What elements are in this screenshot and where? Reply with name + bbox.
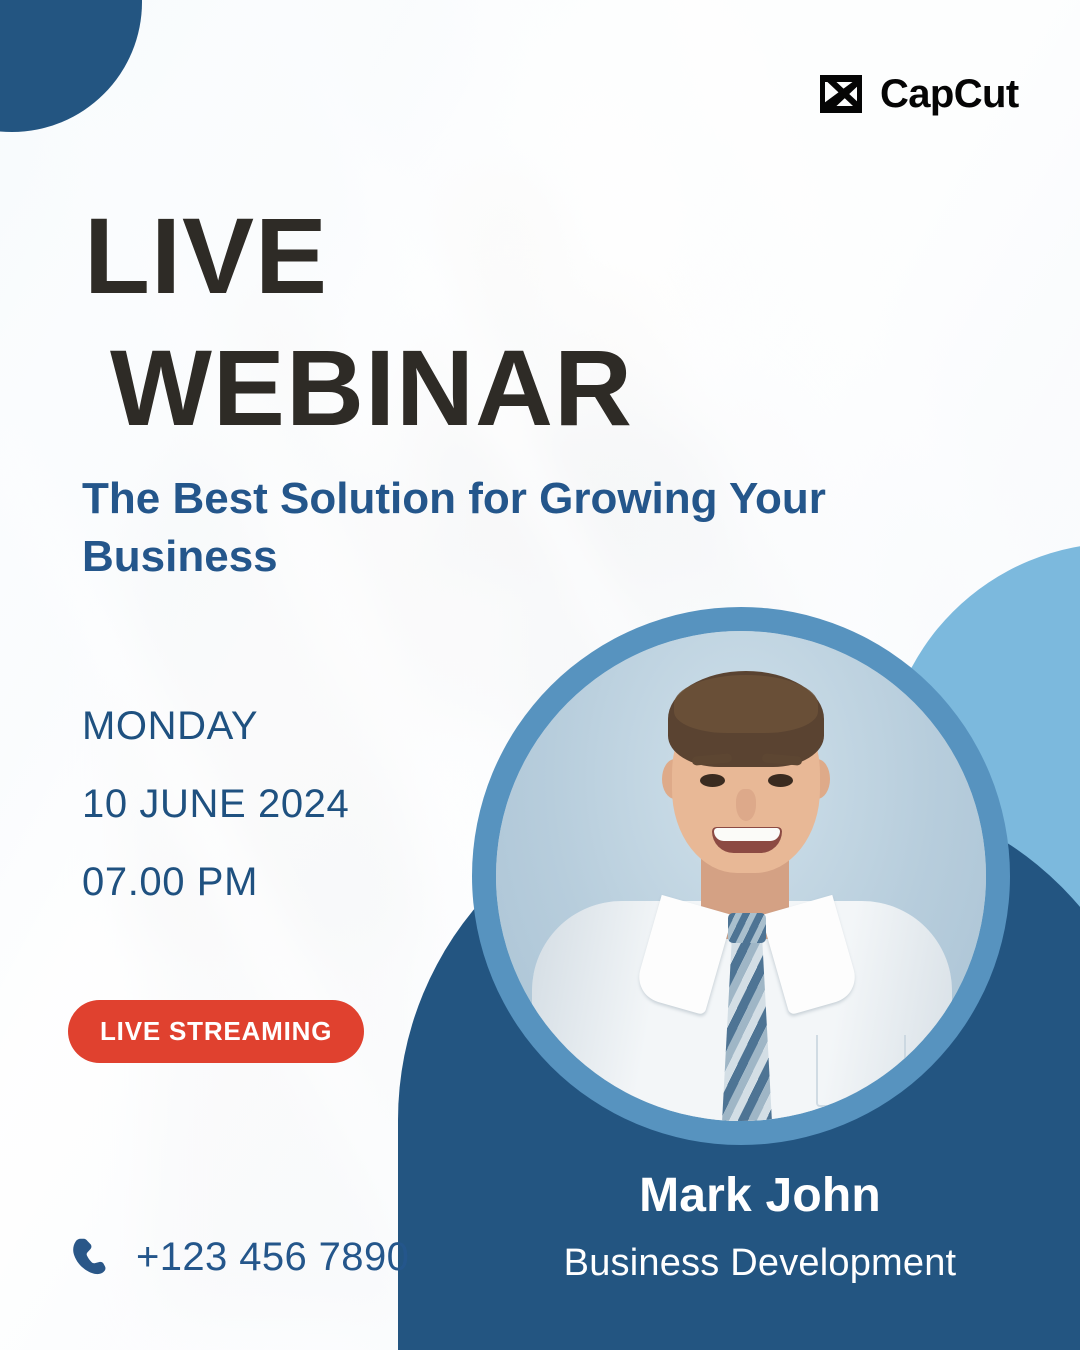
portrait-teeth xyxy=(714,828,780,841)
event-time: 07.00 PM xyxy=(82,862,349,902)
portrait-shirt-pocket xyxy=(816,1035,906,1107)
portrait-mouth xyxy=(712,827,782,853)
speaker-info: Mark John Business Development xyxy=(440,1168,1080,1286)
page-title: LIVE WEBINAR xyxy=(84,190,704,454)
contact-phone[interactable]: +123 456 7890 xyxy=(68,1234,409,1280)
title-line-1: LIVE xyxy=(84,190,704,322)
capcut-mark-icon xyxy=(818,72,864,116)
subtitle: The Best Solution for Growing Your Busin… xyxy=(82,470,852,586)
capcut-logo[interactable]: CapCut xyxy=(818,72,1019,116)
portrait-tie-knot xyxy=(728,913,766,943)
phone-number: +123 456 7890 xyxy=(136,1237,409,1277)
portrait-eye-left xyxy=(700,774,725,787)
webinar-poster: CapCut LIVE WEBINAR The Best Solution fo… xyxy=(0,0,1080,1350)
speaker-name: Mark John xyxy=(440,1168,1080,1225)
title-line-2: WEBINAR xyxy=(110,322,704,454)
avatar xyxy=(496,631,986,1121)
event-datetime: MONDAY 10 JUNE 2024 07.00 PM xyxy=(82,706,349,902)
portrait-nose xyxy=(736,789,756,821)
event-day: MONDAY xyxy=(82,706,349,746)
speaker-role: Business Development xyxy=(440,1241,1080,1287)
phone-icon xyxy=(68,1234,114,1280)
capcut-logo-text: CapCut xyxy=(880,74,1019,114)
live-streaming-badge[interactable]: LIVE STREAMING xyxy=(68,1000,364,1063)
portrait-hair-highlight xyxy=(674,675,818,733)
portrait-eye-right xyxy=(768,774,793,787)
event-date: 10 JUNE 2024 xyxy=(82,784,349,824)
